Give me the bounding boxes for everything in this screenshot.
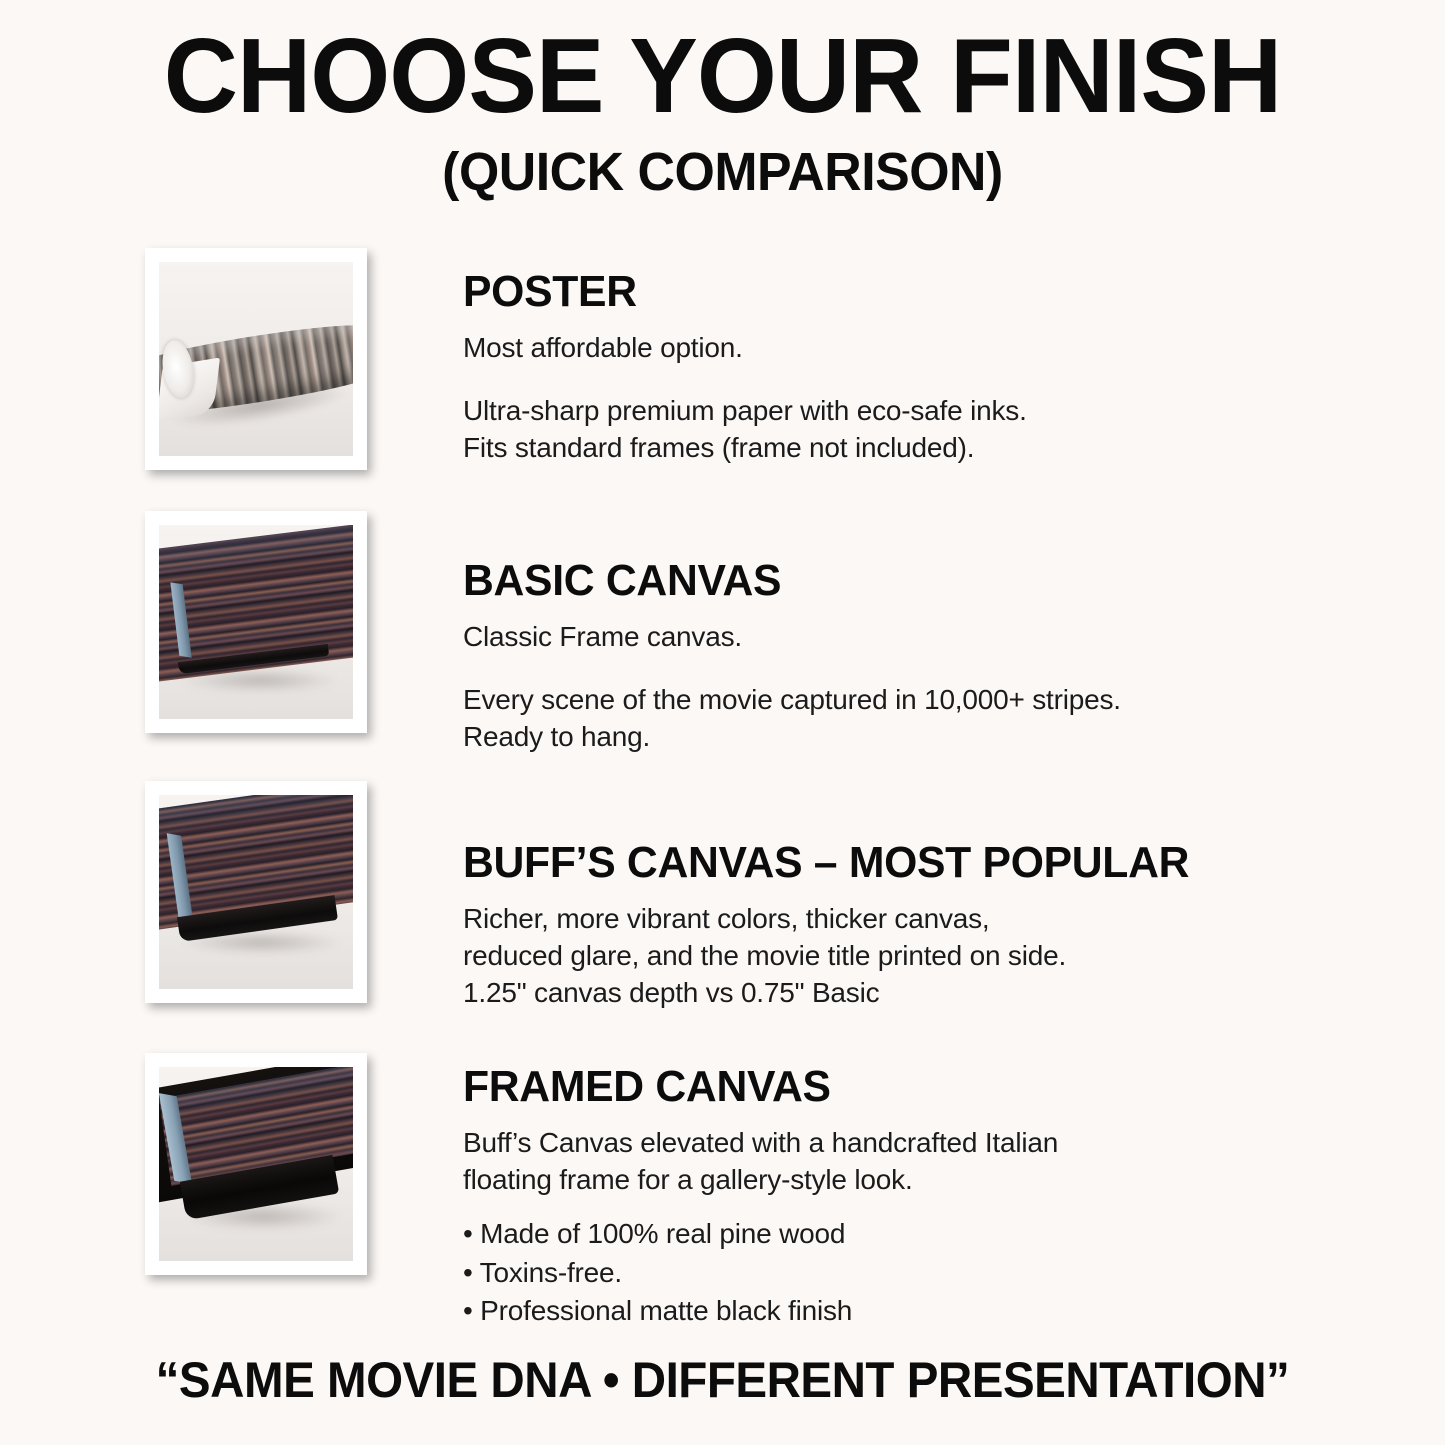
page-subtitle: (QUICK COMPARISON) xyxy=(29,144,1416,201)
option-text-poster: POSTER Most affordable option. Ultra-sha… xyxy=(463,248,1445,467)
option-detail-basic-canvas-1: Every scene of the movie captured in 10,… xyxy=(463,682,1445,719)
option-lead-basic-canvas: Classic Frame canvas. xyxy=(463,619,1445,656)
poster-header: CHOOSE YOUR FINISH (QUICK COMPARISON) xyxy=(0,22,1445,201)
spacer xyxy=(463,656,1445,682)
framed-canvas-slab xyxy=(159,1067,353,1261)
option-title-poster: POSTER xyxy=(463,270,1416,314)
thumbnail-card-framed-canvas xyxy=(145,1053,367,1275)
option-text-buffs-canvas: BUFF’S CANVAS – MOST POPULAR Richer, mor… xyxy=(463,781,1445,1012)
option-detail-basic-canvas-2: Ready to hang. xyxy=(463,719,1445,756)
list-item: • Made of 100% real pine wood xyxy=(463,1215,1445,1254)
list-item: • Professional matte black finish xyxy=(463,1292,1445,1331)
option-row-basic-canvas: BASIC CANVAS Classic Frame canvas. Every… xyxy=(0,511,1445,756)
basic-canvas-corner-photo xyxy=(159,525,353,719)
option-detail-framed-canvas-1: Buff’s Canvas elevated with a handcrafte… xyxy=(463,1125,1445,1162)
framed-canvas-corner-photo xyxy=(159,1067,353,1261)
framed-canvas-bullet-list: • Made of 100% real pine wood • Toxins-f… xyxy=(463,1215,1445,1331)
option-title-basic-canvas: BASIC CANVAS xyxy=(463,559,1416,603)
option-detail-poster-2: Fits standard frames (frame not included… xyxy=(463,430,1445,467)
poster-footer: “SAME MOVIE DNA • DIFFERENT PRESENTATION… xyxy=(0,1351,1445,1409)
option-detail-poster-1: Ultra-sharp premium paper with eco-safe … xyxy=(463,393,1445,430)
thumbnail-card-basic-canvas xyxy=(145,511,367,733)
canvas-slab xyxy=(159,525,353,719)
spacer xyxy=(463,367,1445,393)
canvas-slab xyxy=(159,795,353,989)
option-text-basic-canvas: BASIC CANVAS Classic Frame canvas. Every… xyxy=(463,511,1445,756)
option-lead-poster: Most affordable option. xyxy=(463,330,1445,367)
thumbnail-card-buffs-canvas xyxy=(145,781,367,1003)
rolled-poster-photo xyxy=(159,262,353,456)
option-row-poster: POSTER Most affordable option. Ultra-sha… xyxy=(0,248,1445,470)
spacer xyxy=(463,1199,1445,1215)
page-title: CHOOSE YOUR FINISH xyxy=(22,22,1424,130)
buffs-canvas-corner-photo xyxy=(159,795,353,989)
option-detail-buffs-canvas-1: Richer, more vibrant colors, thicker can… xyxy=(463,901,1445,938)
option-detail-buffs-canvas-3: 1.25" canvas depth vs 0.75" Basic xyxy=(463,975,1445,1012)
option-title-framed-canvas: FRAMED CANVAS xyxy=(463,1065,1416,1109)
finish-comparison-poster: CHOOSE YOUR FINISH (QUICK COMPARISON) PO… xyxy=(0,0,1445,1445)
option-detail-buffs-canvas-2: reduced glare, and the movie title print… xyxy=(463,938,1445,975)
option-row-buffs-canvas: BUFF’S CANVAS – MOST POPULAR Richer, mor… xyxy=(0,781,1445,1012)
thumbnail-card-poster xyxy=(145,248,367,470)
option-detail-framed-canvas-2: floating frame for a gallery-style look. xyxy=(463,1162,1445,1199)
option-row-framed-canvas: FRAMED CANVAS Buff’s Canvas elevated wit… xyxy=(0,1053,1445,1331)
footer-tagline: “SAME MOVIE DNA • DIFFERENT PRESENTATION… xyxy=(36,1351,1409,1409)
option-text-framed-canvas: FRAMED CANVAS Buff’s Canvas elevated wit… xyxy=(463,1053,1445,1331)
option-title-buffs-canvas: BUFF’S CANVAS – MOST POPULAR xyxy=(463,841,1416,885)
list-item: • Toxins-free. xyxy=(463,1254,1445,1293)
